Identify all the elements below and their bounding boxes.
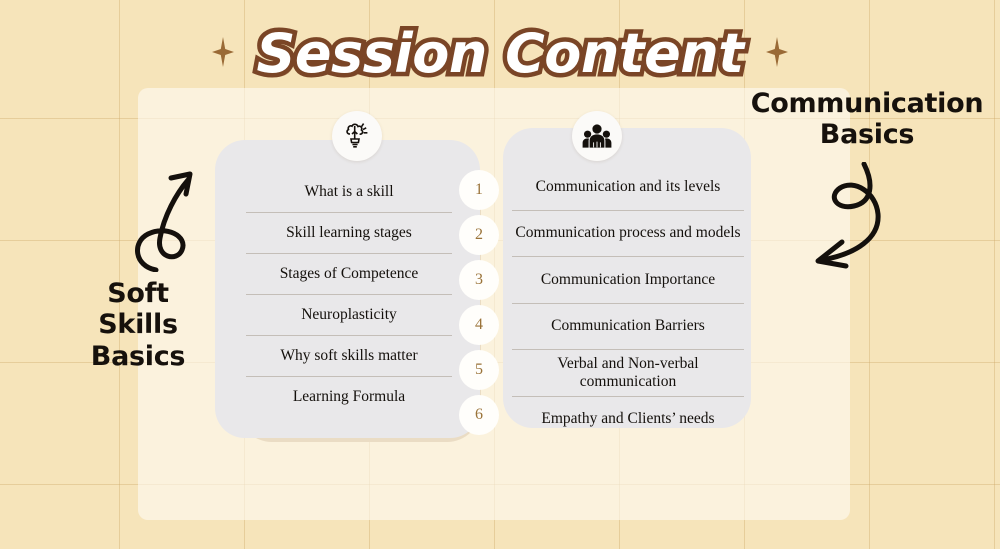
number-badge: 2 <box>459 215 499 255</box>
number-badge: 5 <box>459 350 499 390</box>
people-group-icon <box>582 122 612 150</box>
list-item[interactable]: Stages of Competence <box>246 254 452 295</box>
sparkle-icon <box>766 37 788 72</box>
title-row: Session Content <box>0 26 1000 83</box>
list-item[interactable]: Communication process and models <box>512 211 744 258</box>
list-item[interactable]: What is a skill <box>246 172 452 213</box>
number-badge: 4 <box>459 305 499 345</box>
curved-arrow-up-right-icon <box>126 166 206 277</box>
list-item[interactable]: Why soft skills matter <box>246 336 452 377</box>
list-item[interactable]: Skill learning stages <box>246 213 452 254</box>
sparkle-icon <box>212 37 234 72</box>
curved-arrow-down-left-icon <box>798 162 886 277</box>
number-badge: 6 <box>459 395 499 435</box>
list-item[interactable]: Communication Importance <box>512 257 744 304</box>
list-item[interactable]: Communication and its levels <box>512 164 744 211</box>
lightbulb-brain-icon <box>343 121 371 151</box>
number-column: 1 2 3 4 5 6 <box>459 170 499 435</box>
right-section-label: Communication Basics <box>748 88 986 151</box>
list-item[interactable]: Verbal and Non-verbal communication <box>512 350 744 397</box>
people-group-icon-badge <box>572 111 622 161</box>
page-title: Session Content <box>256 26 743 83</box>
number-badge: 1 <box>459 170 499 210</box>
left-topic-list: What is a skill Skill learning stages St… <box>246 172 452 417</box>
slide-canvas: Session Content Soft Skills Basics Commu… <box>0 0 1000 549</box>
left-section-label: Soft Skills Basics <box>74 278 202 372</box>
list-item[interactable]: Empathy and Clients’ needs <box>512 397 744 443</box>
list-item[interactable]: Communication Barriers <box>512 304 744 351</box>
number-badge: 3 <box>459 260 499 300</box>
list-item[interactable]: Neuroplasticity <box>246 295 452 336</box>
right-topic-list: Communication and its levels Communicati… <box>512 164 744 442</box>
list-item[interactable]: Learning Formula <box>246 377 452 417</box>
lightbulb-brain-icon-badge <box>332 111 382 161</box>
